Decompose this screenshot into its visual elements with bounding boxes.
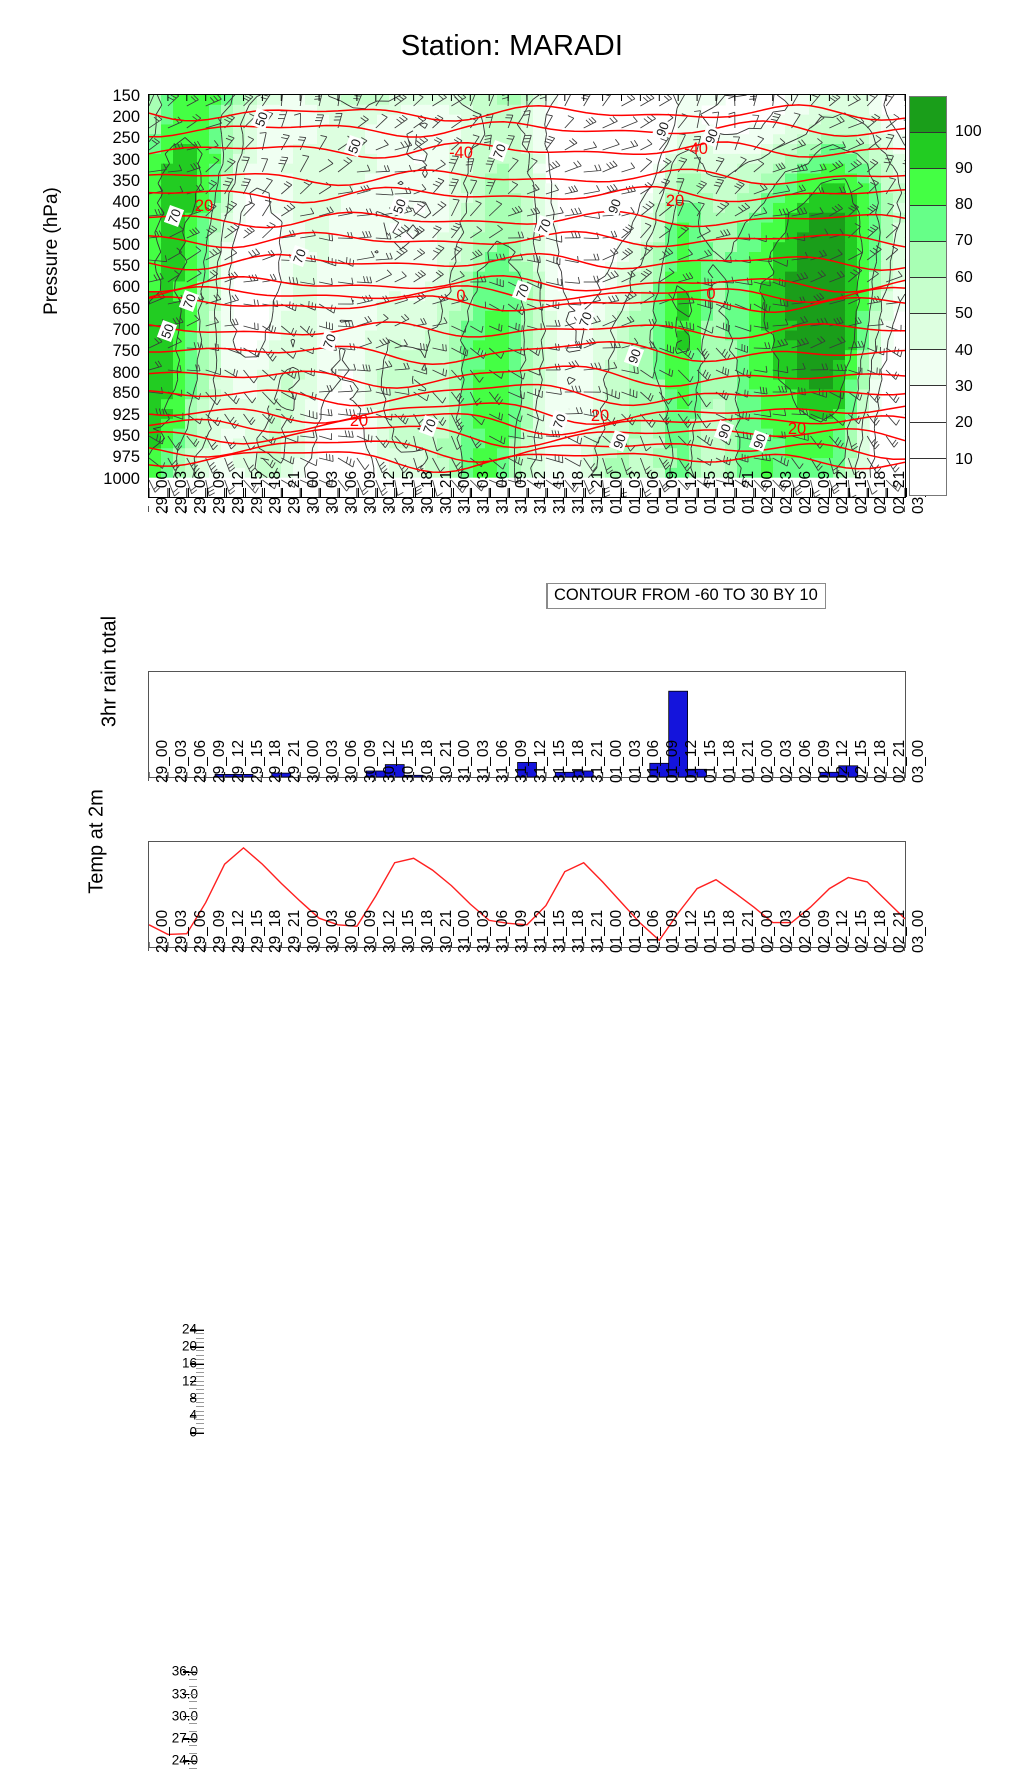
- pressure-tick-550: 550: [72, 258, 140, 275]
- temp-xtick-31_15: 31_15: [551, 910, 569, 953]
- temp-xtick-31_12: 31_12: [532, 910, 550, 953]
- x-tick-mark: [904, 945, 905, 951]
- x-tick-mark: [734, 506, 735, 512]
- colorbar-band-2[interactable]: [910, 169, 946, 205]
- x-tick-mark: [847, 775, 848, 781]
- temp-minor-tick: [189, 1745, 197, 1746]
- x-tick-mark: [885, 775, 886, 781]
- x-tick-mark: [734, 775, 735, 781]
- xsec-xtick-02_09: 02_09: [816, 471, 834, 514]
- temp-xtick-02_21: 02_21: [891, 910, 909, 953]
- rain-minor-tick: [196, 1342, 204, 1343]
- x-tick-mark: [356, 506, 357, 512]
- rain-xtick-31_21: 31_21: [589, 740, 607, 783]
- pressure-tick-650: 650: [72, 300, 140, 317]
- x-tick-mark: [828, 775, 829, 781]
- temp-xtick-01_18: 01_18: [721, 910, 739, 953]
- rain-xtick-02_21: 02_21: [891, 740, 909, 783]
- temp-minor-tick: [189, 1671, 197, 1672]
- contour-label: 0: [706, 285, 715, 303]
- rain-xtick-01_03: 01_03: [627, 740, 645, 783]
- x-tick-mark: [507, 775, 508, 781]
- x-tick-mark: [205, 945, 206, 951]
- x-tick-mark: [526, 945, 527, 951]
- temp-minor-tick: [189, 1701, 197, 1702]
- x-tick-mark: [715, 506, 716, 512]
- x-tick-mark: [488, 506, 489, 512]
- rain-xtick-29_12: 29_12: [230, 740, 248, 783]
- temp-xtick-30_18: 30_18: [419, 910, 437, 953]
- temp-minor-tick: [189, 1679, 197, 1680]
- x-tick-mark: [526, 506, 527, 512]
- x-tick-mark: [299, 945, 300, 951]
- rain-xtick-30_18: 30_18: [419, 740, 437, 783]
- x-tick-mark: [810, 775, 811, 781]
- xsec-xtick-02_00: 02_00: [759, 471, 777, 514]
- temp-xtick-30_06: 30_06: [343, 910, 361, 953]
- x-tick-mark: [677, 945, 678, 951]
- x-tick-mark: [432, 506, 433, 512]
- x-tick-mark: [243, 775, 244, 781]
- rain-xtick-01_15: 01_15: [702, 740, 720, 783]
- rain-minor-tick: [196, 1406, 204, 1407]
- rain-minor-tick: [196, 1415, 204, 1416]
- rain-xtick-30_15: 30_15: [400, 740, 418, 783]
- pressure-tick-850: 850: [72, 385, 140, 402]
- rain-minor-tick: [196, 1428, 204, 1429]
- rain-xtick-31_03: 31_03: [475, 740, 493, 783]
- x-tick-mark: [885, 945, 886, 951]
- x-tick-mark: [621, 945, 622, 951]
- colorbar[interactable]: [909, 96, 947, 496]
- x-tick-mark: [507, 945, 508, 951]
- contour-note: CONTOUR FROM -60 TO 30 BY 10: [546, 583, 826, 609]
- rain-xtick-02_15: 02_15: [853, 740, 871, 783]
- contour-label: 20: [350, 412, 368, 430]
- rain-minor-tick: [196, 1385, 204, 1386]
- colorbar-band-5[interactable]: [910, 278, 946, 314]
- x-tick-mark: [526, 775, 527, 781]
- pressure-tick-975: 975: [72, 449, 140, 466]
- x-tick-mark: [224, 775, 225, 781]
- x-tick-mark: [658, 775, 659, 781]
- x-tick-mark: [432, 775, 433, 781]
- temp-xtick-02_18: 02_18: [872, 910, 890, 953]
- colorbar-band-4[interactable]: [910, 242, 946, 278]
- x-tick-mark: [337, 945, 338, 951]
- pressure-tick-600: 600: [72, 279, 140, 296]
- rain-minor-tick: [196, 1368, 204, 1369]
- contour-label: -40: [449, 144, 473, 162]
- rain-xtick-30_03: 30_03: [324, 740, 342, 783]
- x-tick-mark: [167, 506, 168, 512]
- temp-xtick-30_00: 30_00: [305, 910, 323, 953]
- temp-xtick-29_21: 29_21: [286, 910, 304, 953]
- x-tick-mark: [261, 775, 262, 781]
- temp-xtick-30_03: 30_03: [324, 910, 342, 953]
- x-tick-mark: [243, 506, 244, 512]
- colorbar-band-1[interactable]: [910, 133, 946, 169]
- temp-xtick-02_09: 02_09: [816, 910, 834, 953]
- rain-xtick-02_12: 02_12: [834, 740, 852, 783]
- xsec-xtick-01_03: 01_03: [627, 471, 645, 514]
- colorbar-label-20: 20: [955, 414, 973, 432]
- temp-xtick-01_06: 01_06: [645, 910, 663, 953]
- xsec-xtick-30_12: 30_12: [381, 471, 399, 514]
- x-tick-mark: [318, 775, 319, 781]
- x-tick-mark: [791, 506, 792, 512]
- temp-minor-tick: [189, 1731, 197, 1732]
- xsec-xtick-02_15: 02_15: [853, 471, 871, 514]
- x-tick-mark: [318, 945, 319, 951]
- x-tick-mark: [602, 506, 603, 512]
- xsec-xtick-30_00: 30_00: [305, 471, 323, 514]
- temp-xtick-29_06: 29_06: [192, 910, 210, 953]
- x-tick-mark: [507, 506, 508, 512]
- temp-xtick-31_00: 31_00: [456, 910, 474, 953]
- x-tick-mark: [696, 945, 697, 951]
- rain-minor-tick: [196, 1393, 204, 1394]
- temp-xtick-02_00: 02_00: [759, 910, 777, 953]
- rain-xtick-01_00: 01_00: [608, 740, 626, 783]
- temp-xtick-29_12: 29_12: [230, 910, 248, 953]
- xsec-xtick-29_00: 29_00: [154, 471, 172, 514]
- xsec-xtick-02_12: 02_12: [834, 471, 852, 514]
- x-tick-mark: [186, 945, 187, 951]
- xsec-xtick-29_12: 29_12: [230, 471, 248, 514]
- x-tick-mark: [696, 506, 697, 512]
- xsec-xtick-30_06: 30_06: [343, 471, 361, 514]
- pressure-axis-title: Pressure (hPa): [41, 141, 63, 361]
- x-tick-mark: [394, 506, 395, 512]
- xsec-xtick-01_15: 01_15: [702, 471, 720, 514]
- colorbar-label-100: 100: [955, 123, 982, 141]
- rain-xtick-29_03: 29_03: [173, 740, 191, 783]
- x-tick-mark: [469, 775, 470, 781]
- temp-xtick-31_21: 31_21: [589, 910, 607, 953]
- x-tick-mark: [148, 506, 149, 512]
- temp-minor-tick: [189, 1738, 197, 1739]
- temp-xtick-30_12: 30_12: [381, 910, 399, 953]
- xsec-xtick-31_18: 31_18: [570, 471, 588, 514]
- rain-minor-tick: [196, 1376, 204, 1377]
- x-tick-mark: [488, 775, 489, 781]
- x-tick-mark: [186, 775, 187, 781]
- temp-xtick-01_21: 01_21: [740, 910, 758, 953]
- x-tick-mark: [375, 945, 376, 951]
- xsec-xtick-30_15: 30_15: [400, 471, 418, 514]
- x-tick-mark: [224, 945, 225, 951]
- x-tick-mark: [337, 506, 338, 512]
- rain-xtick-29_00: 29_00: [154, 740, 172, 783]
- x-tick-mark: [583, 506, 584, 512]
- rain-xtick-03_00: 03_00: [910, 740, 928, 783]
- temp-xtick-01_00: 01_00: [608, 910, 626, 953]
- x-tick-mark: [847, 945, 848, 951]
- x-tick-mark: [261, 945, 262, 951]
- xsec-xtick-01_12: 01_12: [683, 471, 701, 514]
- x-tick-mark: [545, 945, 546, 951]
- rain-xtick-29_15: 29_15: [249, 740, 267, 783]
- xsec-xtick-29_09: 29_09: [211, 471, 229, 514]
- rain-xtick-30_12: 30_12: [381, 740, 399, 783]
- x-tick-mark: [639, 945, 640, 951]
- rain-minor-tick: [196, 1398, 204, 1399]
- rain-minor-tick: [196, 1329, 204, 1330]
- x-tick-mark: [621, 506, 622, 512]
- x-tick-mark: [167, 945, 168, 951]
- x-tick-mark: [167, 775, 168, 781]
- contour-label: -40: [684, 140, 708, 158]
- rain-xtick-29_09: 29_09: [211, 740, 229, 783]
- x-tick-mark: [337, 775, 338, 781]
- cross-section-panel[interactable]: 5050707050905070709090709070707070709090…: [148, 94, 906, 498]
- xsec-xtick-30_03: 30_03: [324, 471, 342, 514]
- temp-x-labels: 29_0029_0329_0629_0929_1229_1529_1829_21…: [148, 951, 906, 1023]
- xsec-xtick-29_21: 29_21: [286, 471, 304, 514]
- colorbar-label-70: 70: [955, 232, 973, 250]
- x-tick-mark: [602, 945, 603, 951]
- xsec-xtick-30_18: 30_18: [419, 471, 437, 514]
- rain-minor-tick: [196, 1402, 204, 1403]
- rain-minor-tick: [196, 1338, 204, 1339]
- x-tick-mark: [413, 506, 414, 512]
- xsec-xtick-31_12: 31_12: [532, 471, 550, 514]
- xsec-xtick-29_18: 29_18: [267, 471, 285, 514]
- xsec-xtick-31_03: 31_03: [475, 471, 493, 514]
- x-tick-mark: [753, 945, 754, 951]
- rain-xtick-30_21: 30_21: [438, 740, 456, 783]
- x-tick-mark: [791, 775, 792, 781]
- rain-minor-tick: [196, 1346, 204, 1347]
- x-tick-mark: [243, 945, 244, 951]
- x-tick-mark: [261, 506, 262, 512]
- x-tick-mark: [413, 945, 414, 951]
- x-tick-mark: [469, 506, 470, 512]
- cross-section-svg: 5050707050905070709090709070707070709090…: [149, 95, 905, 497]
- x-tick-mark: [450, 506, 451, 512]
- colorbar-band-10[interactable]: [910, 459, 946, 495]
- xsec-xtick-29_03: 29_03: [173, 471, 191, 514]
- temp-minor-tick: [189, 1716, 197, 1717]
- cross-section-x-labels: 29_0029_0329_0629_0929_1229_1529_1829_21…: [148, 512, 906, 584]
- temp-xtick-29_03: 29_03: [173, 910, 191, 953]
- xsec-xtick-31_00: 31_00: [456, 471, 474, 514]
- x-tick-mark: [696, 775, 697, 781]
- rain-xtick-01_12: 01_12: [683, 740, 701, 783]
- xsec-xtick-31_15: 31_15: [551, 471, 569, 514]
- x-tick-mark: [450, 945, 451, 951]
- x-tick-mark: [677, 506, 678, 512]
- rain-xtick-02_06: 02_06: [797, 740, 815, 783]
- temp-xtick-29_09: 29_09: [211, 910, 229, 953]
- x-tick-mark: [677, 775, 678, 781]
- x-tick-mark: [621, 775, 622, 781]
- x-tick-mark: [866, 775, 867, 781]
- temp-xtick-01_09: 01_09: [664, 910, 682, 953]
- rain-minor-tick: [196, 1411, 204, 1412]
- rain-minor-tick: [196, 1359, 204, 1360]
- xsec-xtick-31_09: 31_09: [513, 471, 531, 514]
- rain-xtick-31_09: 31_09: [513, 740, 531, 783]
- x-tick-mark: [772, 506, 773, 512]
- pressure-tick-450: 450: [72, 215, 140, 232]
- x-tick-mark: [205, 506, 206, 512]
- x-tick-mark: [564, 506, 565, 512]
- pressure-tick-700: 700: [72, 322, 140, 339]
- temp-xtick-29_00: 29_00: [154, 910, 172, 953]
- pressure-tick-950: 950: [72, 428, 140, 445]
- x-tick-mark: [772, 775, 773, 781]
- cross-section-plot-area[interactable]: 5050707050905070709090709070707070709090…: [148, 94, 906, 498]
- x-tick-mark: [356, 775, 357, 781]
- temp-xtick-29_18: 29_18: [267, 910, 285, 953]
- rain-xtick-29_18: 29_18: [267, 740, 285, 783]
- x-tick-mark: [847, 506, 848, 512]
- rain-xtick-02_03: 02_03: [778, 740, 796, 783]
- rain-minor-tick: [196, 1363, 204, 1364]
- xsec-xtick-30_09: 30_09: [362, 471, 380, 514]
- rain-xtick-01_21: 01_21: [740, 740, 758, 783]
- rain-minor-tick: [196, 1333, 204, 1334]
- x-tick-mark: [318, 506, 319, 512]
- rain-xtick-30_09: 30_09: [362, 740, 380, 783]
- xsec-xtick-01_00: 01_00: [608, 471, 626, 514]
- x-tick-mark: [469, 945, 470, 951]
- x-tick-mark: [413, 775, 414, 781]
- pressure-tick-250: 250: [72, 130, 140, 147]
- x-tick-mark: [280, 945, 281, 951]
- colorbar-band-8[interactable]: [910, 386, 946, 422]
- x-tick-mark: [564, 945, 565, 951]
- temp-minor-tick: [189, 1768, 197, 1769]
- contour-label: 20: [788, 420, 806, 438]
- x-tick-mark: [810, 945, 811, 951]
- x-tick-mark: [375, 775, 376, 781]
- pressure-tick-150: 150: [72, 88, 140, 105]
- rain-minor-tick: [196, 1389, 204, 1390]
- x-tick-mark: [715, 775, 716, 781]
- colorbar-label-60: 60: [955, 269, 973, 287]
- xsec-xtick-31_21: 31_21: [589, 471, 607, 514]
- temp-xtick-30_21: 30_21: [438, 910, 456, 953]
- x-tick-mark: [772, 945, 773, 951]
- x-tick-mark: [299, 506, 300, 512]
- contour-label: 20: [591, 407, 609, 425]
- pressure-tick-750: 750: [72, 343, 140, 360]
- temp-xtick-02_12: 02_12: [834, 910, 852, 953]
- colorbar-band-0[interactable]: [910, 97, 946, 133]
- rain-xtick-30_00: 30_00: [305, 740, 323, 783]
- rain-xtick-31_12: 31_12: [532, 740, 550, 783]
- rain-xtick-29_21: 29_21: [286, 740, 304, 783]
- pressure-tick-800: 800: [72, 364, 140, 381]
- xsec-xtick-29_06: 29_06: [192, 471, 210, 514]
- x-tick-mark: [715, 945, 716, 951]
- rain-xtick-31_15: 31_15: [551, 740, 569, 783]
- colorbar-labels: 100908070605040302010: [955, 96, 1015, 496]
- colorbar-band-9[interactable]: [910, 423, 946, 459]
- colorbar-label-90: 90: [955, 160, 973, 178]
- x-tick-mark: [356, 945, 357, 951]
- rain-minor-tick: [196, 1432, 204, 1433]
- contour-label: 90: [604, 195, 625, 217]
- pressure-tick-200: 200: [72, 109, 140, 126]
- rain-xtick-30_06: 30_06: [343, 740, 361, 783]
- temp-xtick-02_06: 02_06: [797, 910, 815, 953]
- rain-xtick-01_09: 01_09: [664, 740, 682, 783]
- pressure-tick-400: 400: [72, 194, 140, 211]
- x-tick-mark: [583, 945, 584, 951]
- rain-minor-tick: [196, 1419, 204, 1420]
- pressure-tick-500: 500: [72, 236, 140, 253]
- x-tick-mark: [639, 506, 640, 512]
- x-tick-mark: [564, 775, 565, 781]
- x-tick-mark: [639, 775, 640, 781]
- rain-xtick-31_00: 31_00: [456, 740, 474, 783]
- rain-xtick-29_06: 29_06: [192, 740, 210, 783]
- rain-minor-tick: [196, 1372, 204, 1373]
- x-tick-mark: [394, 775, 395, 781]
- temp-xtick-01_12: 01_12: [683, 910, 701, 953]
- colorbar-band-6[interactable]: [910, 314, 946, 350]
- temp-minor-tick: [189, 1694, 197, 1695]
- x-tick-mark: [186, 506, 187, 512]
- x-tick-mark: [904, 506, 905, 512]
- xsec-xtick-01_06: 01_06: [645, 471, 663, 514]
- rain-minor-tick: [196, 1423, 204, 1424]
- colorbar-label-30: 30: [955, 378, 973, 396]
- x-tick-mark: [791, 945, 792, 951]
- colorbar-band-3[interactable]: [910, 206, 946, 242]
- pressure-tick-300: 300: [72, 151, 140, 168]
- colorbar-label-50: 50: [955, 305, 973, 323]
- temp-xtick-30_15: 30_15: [400, 910, 418, 953]
- xsec-xtick-02_18: 02_18: [872, 471, 890, 514]
- rain-xtick-02_18: 02_18: [872, 740, 890, 783]
- xsec-xtick-29_15: 29_15: [249, 471, 267, 514]
- colorbar-label-10: 10: [955, 451, 973, 469]
- x-tick-mark: [753, 775, 754, 781]
- x-tick-mark: [375, 506, 376, 512]
- x-tick-mark: [432, 945, 433, 951]
- contour-label: 20: [666, 192, 684, 210]
- x-tick-mark: [545, 775, 546, 781]
- x-tick-mark: [148, 775, 149, 781]
- xsec-xtick-01_18: 01_18: [721, 471, 739, 514]
- temp-minor-tick: [189, 1753, 197, 1754]
- temp-xtick-31_03: 31_03: [475, 910, 493, 953]
- xsec-xtick-01_21: 01_21: [740, 471, 758, 514]
- contour-label: 0: [456, 287, 465, 305]
- colorbar-band-7[interactable]: [910, 350, 946, 386]
- temp-xtick-29_15: 29_15: [249, 910, 267, 953]
- x-tick-mark: [583, 775, 584, 781]
- x-tick-mark: [658, 945, 659, 951]
- x-tick-mark: [224, 506, 225, 512]
- rain-xtick-02_00: 02_00: [759, 740, 777, 783]
- temp-minor-tick: [189, 1686, 197, 1687]
- x-tick-mark: [299, 775, 300, 781]
- x-tick-mark: [734, 945, 735, 951]
- temp-xtick-01_15: 01_15: [702, 910, 720, 953]
- rain-minor-tick: [196, 1350, 204, 1351]
- rain-minor-tick: [196, 1355, 204, 1356]
- x-tick-mark: [885, 506, 886, 512]
- pressure-axis-labels: 1502002503003504004505005506006507007508…: [72, 94, 140, 498]
- xsec-xtick-02_21: 02_21: [891, 471, 909, 514]
- contour-label: 20: [195, 197, 213, 215]
